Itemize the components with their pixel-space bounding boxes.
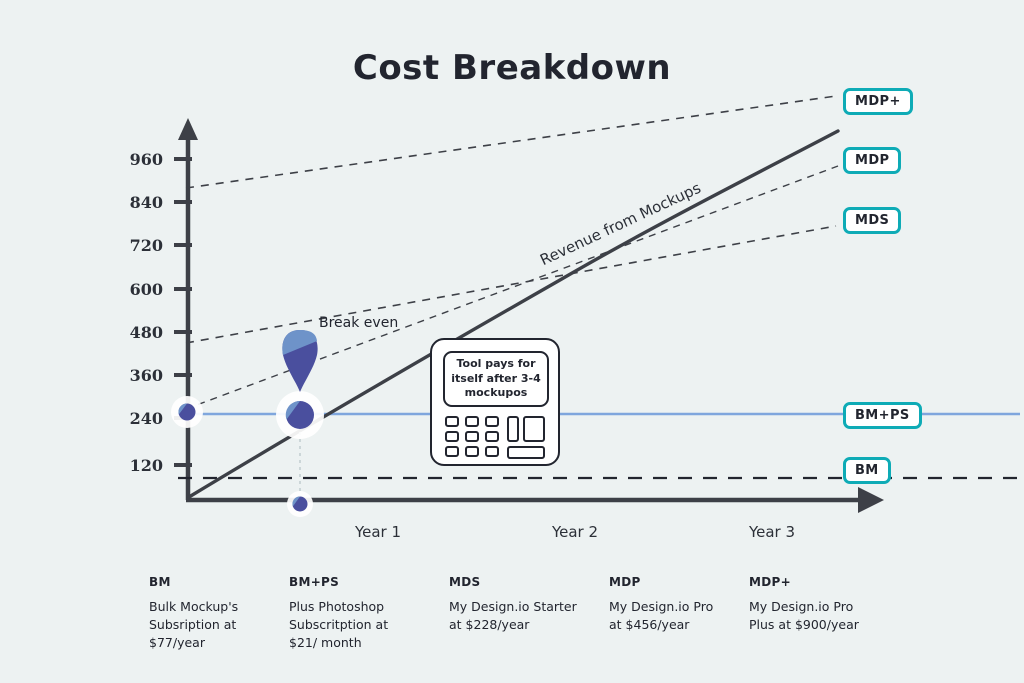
marker-break-even — [276, 391, 324, 439]
calculator-key — [445, 431, 459, 442]
legend-item-bm-ps: BM+PS Plus Photoshop Subscritption at $2… — [289, 575, 439, 652]
calculator-key — [465, 416, 479, 427]
calculator-callout: Tool pays for itself after 3-4 mockupos — [430, 338, 560, 466]
calculator-key-tall — [507, 416, 519, 442]
marker-bmps-origin — [171, 396, 203, 428]
calculator-key — [465, 431, 479, 442]
y-tick-label: 120 — [103, 456, 163, 475]
calculator-key — [485, 431, 499, 442]
legend-item-mdp: MDP My Design.io Pro at $456/year — [609, 575, 749, 634]
y-tick-label: 840 — [103, 193, 163, 212]
y-tick-label: 360 — [103, 366, 163, 385]
legend-badge-mdp-plus[interactable]: MDP+ — [843, 88, 913, 115]
calculator-screen-text: Tool pays for itself after 3-4 mockupos — [443, 351, 549, 407]
legend-badge-mdp[interactable]: MDP — [843, 147, 901, 174]
x-tick-label-year-1: Year 1 — [318, 523, 438, 541]
legend-item-code: BM — [149, 575, 279, 589]
calculator-key-square — [523, 416, 545, 442]
marker-x-axis-point — [287, 491, 313, 517]
y-tick-label: 720 — [103, 236, 163, 255]
legend-item-code: MDS — [449, 575, 604, 589]
calculator-key — [445, 416, 459, 427]
break-even-label: Break even — [319, 315, 398, 331]
legend-item-code: MDP+ — [749, 575, 899, 589]
y-tick-label: 240 — [103, 409, 163, 428]
calculator-key — [465, 446, 479, 457]
legend-list: BM Bulk Mockup's Subsription at $77/year… — [0, 575, 1024, 675]
y-axis — [178, 118, 198, 500]
x-tick-label-year-3: Year 3 — [712, 523, 832, 541]
legend-item-desc: Bulk Mockup's Subsription at $77/year — [149, 598, 279, 652]
legend-badge-bm[interactable]: BM — [843, 457, 891, 484]
y-tick-label: 960 — [103, 150, 163, 169]
legend-badge-bm-ps[interactable]: BM+PS — [843, 402, 922, 429]
chart-canvas: Cost Breakdown — [0, 0, 1024, 683]
legend-item-desc: My Design.io Starter at $228/year — [449, 598, 604, 634]
break-even-pin-icon — [282, 330, 317, 392]
calculator-key — [485, 446, 499, 457]
legend-item-desc: My Design.io Pro Plus at $900/year — [749, 598, 899, 634]
calculator-key — [445, 446, 459, 457]
calculator-key — [485, 416, 499, 427]
x-tick-label-year-2: Year 2 — [515, 523, 635, 541]
legend-item-desc: My Design.io Pro at $456/year — [609, 598, 749, 634]
calculator-key-wide — [507, 446, 545, 459]
legend-item-desc: Plus Photoshop Subscritption at $21/ mon… — [289, 598, 439, 652]
legend-item-code: MDP — [609, 575, 749, 589]
series-line-mdp-plus — [186, 96, 836, 188]
legend-item-mdp-plus: MDP+ My Design.io Pro Plus at $900/year — [749, 575, 899, 634]
series-line-mds — [186, 226, 836, 343]
y-tick-label: 480 — [103, 323, 163, 342]
legend-item-mds: MDS My Design.io Starter at $228/year — [449, 575, 604, 634]
legend-item-code: BM+PS — [289, 575, 439, 589]
y-tick-label: 600 — [103, 280, 163, 299]
legend-badge-mds[interactable]: MDS — [843, 207, 901, 234]
legend-item-bm: BM Bulk Mockup's Subsription at $77/year — [149, 575, 279, 652]
calculator-keypad — [445, 416, 549, 456]
